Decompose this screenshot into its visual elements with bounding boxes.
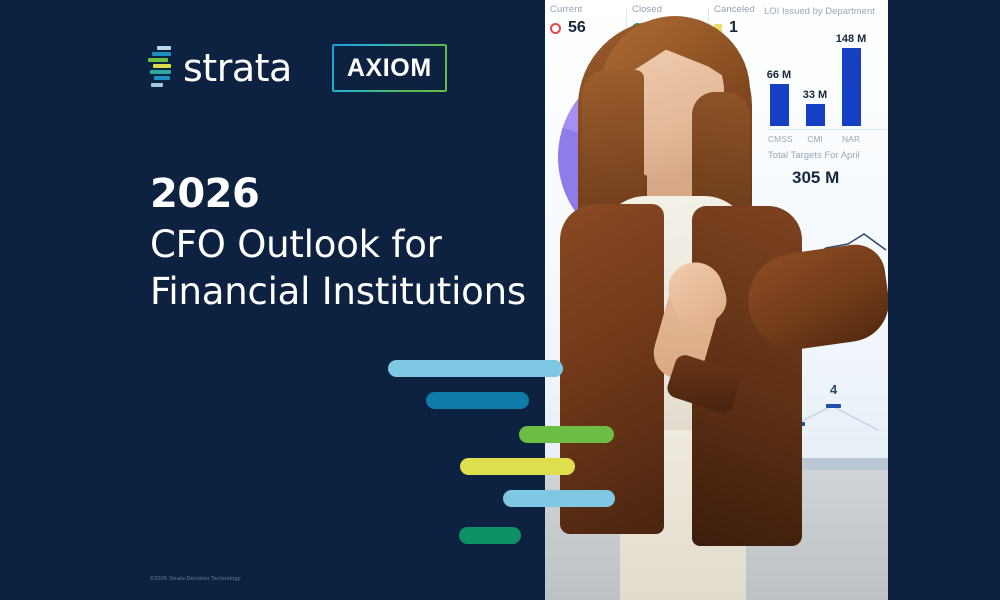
logo-row: strata AXIOM: [148, 44, 447, 92]
cover-photo: Current 56 Closed 42 Canceled: [542, 0, 888, 600]
title-line-2: Financial Institutions: [150, 268, 570, 315]
title-year: 2026: [150, 172, 570, 217]
jacket-left: [560, 204, 664, 534]
report-cover: Current 56 Closed 42 Canceled: [0, 0, 1000, 600]
axiom-logo[interactable]: AXIOM: [332, 44, 447, 92]
strata-logo[interactable]: strata: [148, 45, 292, 91]
copyright-notice: ©2026 Strata Decision Technology: [150, 576, 241, 582]
strata-wordmark: strata: [183, 49, 292, 87]
title-main: CFO Outlook for Financial Institutions: [150, 221, 570, 316]
axiom-wordmark: AXIOM: [347, 54, 432, 83]
page-title: 2026 CFO Outlook for Financial Instituti…: [150, 172, 570, 316]
title-line-1: CFO Outlook for: [150, 221, 570, 268]
strata-bars-mark-icon: [148, 45, 174, 91]
presenter-figure: [542, 0, 888, 600]
